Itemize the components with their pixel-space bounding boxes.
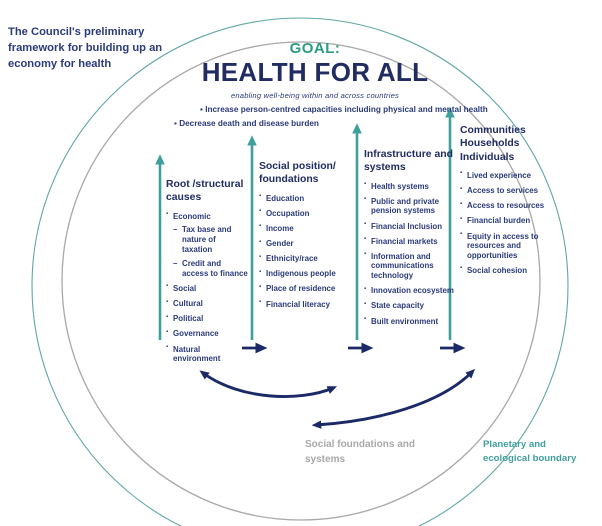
list-item: Access to services [460, 186, 558, 196]
column-social-position-foundations: Social position/ foundations Education O… [259, 160, 347, 315]
list-item: Governance [166, 329, 248, 339]
goal-point: ▪ Increase person-centred capacities inc… [150, 105, 480, 114]
column-communities-households-individuals: Communities Households Individuals Lived… [460, 124, 558, 281]
list-item: Occupation [259, 209, 347, 219]
list-item: Cultural [166, 299, 248, 309]
curved-double-arrow-icon-upper [203, 373, 333, 397]
list-item: Social cohesion [460, 266, 558, 276]
goal-point-label: Increase person-centred capacities inclu… [205, 105, 488, 114]
list-item: Place of residence [259, 284, 347, 294]
list-item: Indigenous people [259, 269, 347, 279]
list-item: Equity in access to resources and opport… [460, 232, 558, 261]
goal-kicker: GOAL: [150, 40, 480, 57]
sub-list-item: Tax base and nature of taxation [173, 225, 248, 254]
list-item: Education [259, 194, 347, 204]
list-item: Access to resources [460, 201, 558, 211]
framework-caption: The Council's preliminary framework for … [8, 24, 168, 73]
list-item: Financial markets [364, 237, 456, 247]
list-item: Health systems [364, 182, 456, 192]
list-item: Political [166, 314, 248, 324]
column-title: Infrastructure and systems [364, 148, 456, 175]
list-item: Public and private pension systems [364, 197, 456, 216]
list-item: Gender [259, 239, 347, 249]
list-item: Ethnicity/race [259, 254, 347, 264]
framework-diagram: The Council's preliminary framework for … [0, 0, 602, 526]
list-item: Financial burden [460, 216, 558, 226]
list-item: Innovation ecosystem [364, 286, 456, 296]
list-item: Natural environment [166, 345, 248, 364]
bullet-icon: ▪ [200, 105, 203, 114]
sub-list-item: Credit and access to finance [173, 259, 248, 278]
list-item: Income [259, 224, 347, 234]
list-item: Economic Tax base and nature of taxation… [166, 212, 248, 279]
list-item: Social [166, 284, 248, 294]
column-infrastructure-and-systems: Infrastructure and systems Health system… [364, 148, 456, 332]
goal-point: ▪ Decrease death and disease burden [150, 119, 480, 128]
sub-item-list: Tax base and nature of taxation Credit a… [173, 225, 248, 278]
list-item: Built environment [364, 317, 456, 327]
bullet-icon: ▪ [174, 119, 177, 128]
list-item: State capacity [364, 301, 456, 311]
column-root-structural-causes: Root /structural causes Economic Tax bas… [166, 178, 248, 369]
list-item: Financial literacy [259, 300, 347, 310]
social-foundations-label: Social foundations and systems [305, 438, 425, 467]
curved-double-arrow-icon-lower [316, 372, 472, 425]
column-title: Root /structural causes [166, 178, 248, 205]
column-item-list: Health systems Public and private pensio… [364, 182, 456, 327]
goal-point-label: Decrease death and disease burden [179, 119, 319, 128]
goal-subtitle: enabling well-being within and across co… [150, 91, 480, 100]
goal-title: HEALTH FOR ALL [150, 58, 480, 87]
column-item-list: Economic Tax base and nature of taxation… [166, 212, 248, 364]
list-item: Information and communications technolog… [364, 252, 456, 281]
planetary-boundary-label: Planetary and ecological boundary [483, 438, 595, 466]
column-item-list: Education Occupation Income Gender Ethni… [259, 194, 347, 310]
list-item: Lived experience [460, 171, 558, 181]
column-title: Social position/ foundations [259, 160, 347, 187]
list-item-label: Economic [173, 212, 211, 221]
column-title: Communities Households Individuals [460, 124, 558, 164]
goal-block: GOAL: HEALTH FOR ALL enabling well-being… [150, 40, 480, 128]
list-item: Financial Inclusion [364, 222, 456, 232]
column-item-list: Lived experience Access to services Acce… [460, 171, 558, 276]
